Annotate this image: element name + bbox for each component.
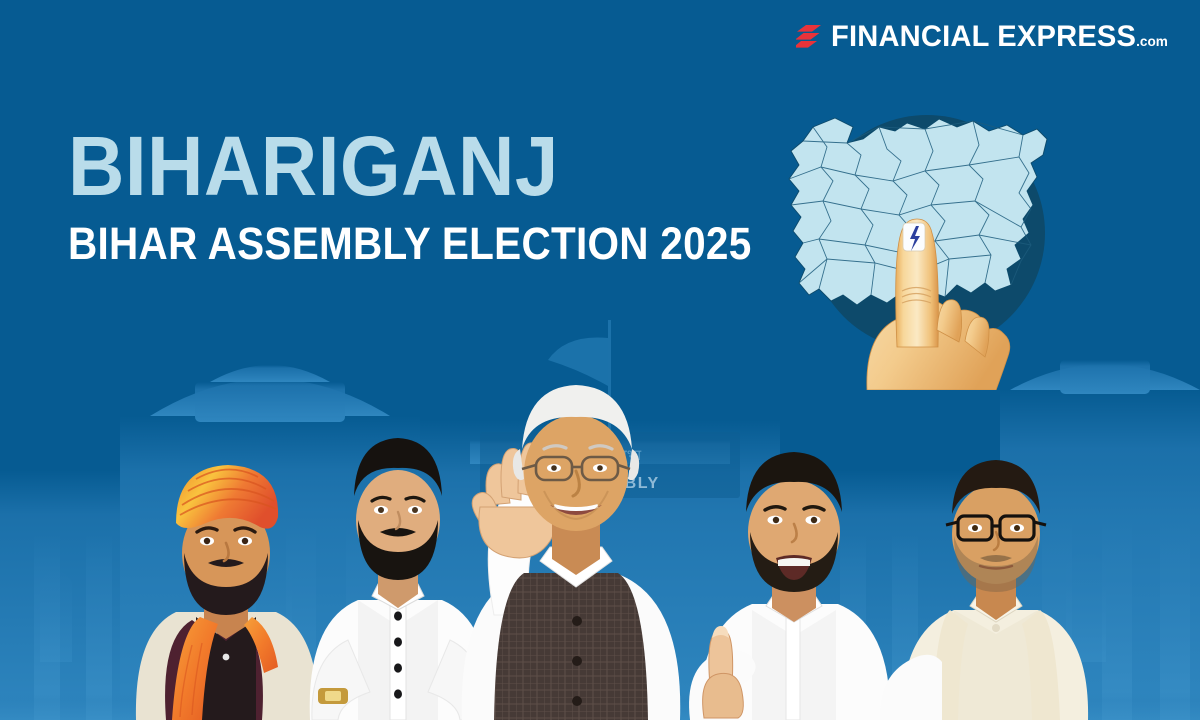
bihar-district-map-with-inked-finger-icon: [775, 105, 1055, 390]
person-prashant-kishor: [880, 458, 1110, 720]
brand-tld: .com: [1136, 33, 1168, 49]
financial-express-logo[interactable]: FINANCIAL EXPRESS.com: [796, 22, 1178, 52]
election-subtitle: BIHAR ASSEMBLY ELECTION 2025: [68, 221, 751, 266]
slanted-stripes-icon: [796, 23, 822, 51]
brand-name: FINANCIAL EXPRESS: [831, 20, 1136, 53]
leaders-row: [0, 390, 1200, 720]
brand-wordmark: FINANCIAL EXPRESS.com: [831, 22, 1168, 52]
headline-block: BIHARIGANJ BIHAR ASSEMBLY ELECTION 2025: [68, 128, 827, 266]
election-banner: विधान सभा ASSEMBLY FINANCIAL EXPRESS.com…: [0, 0, 1200, 720]
constituency-title: BIHARIGANJ: [68, 128, 774, 205]
person-nitish-kumar: [432, 375, 722, 720]
